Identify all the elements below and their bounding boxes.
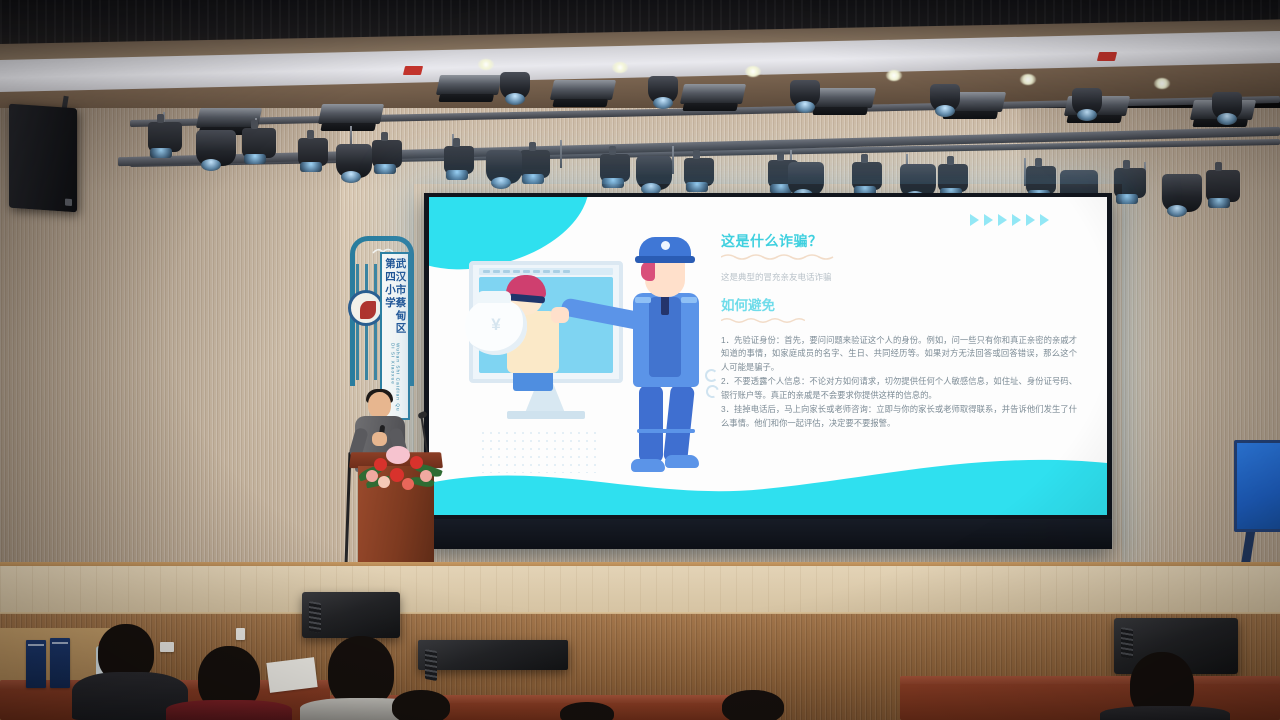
moving-head-fixture [1212,92,1242,120]
arrow-decoration-group [970,214,1049,226]
slide-title: 这是什么诈骗？ [721,231,1077,251]
officer-hand [551,307,569,323]
slide-body-text: 1．先验证身份：首先，要问问题来验证这个人的身份。例如，问一些只有你和真正亲密的… [721,334,1077,430]
moving-head-fixture [788,162,824,196]
screen-bezel [424,519,1112,549]
floor-monitor-speaker [302,592,400,638]
school-name-chinese: 武汉市蔡甸区第四小学 [385,258,406,343]
blue-dash-decoration [637,429,695,433]
slide-point: 2．不要透露个人信息：不论对方如何请求，切勿提供任何个人敏感信息，如住址、身份证… [721,375,1077,402]
moving-head-fixture [1162,174,1202,212]
triangle-right-icon [1012,214,1021,226]
monitor-stand-base [507,411,585,419]
led-display-screen[interactable]: 这是什么诈骗？ 这是典型的冒充亲友电话诈骗 如何避免 1．先验证身份：首先，要问… [424,193,1112,549]
presentation-slide: 这是什么诈骗？ 这是典型的冒充亲友电话诈骗 如何避免 1．先验证身份：首先，要问… [429,197,1107,515]
moving-head-fixture [1072,88,1102,116]
par-can-fixture [600,154,630,182]
par-can-fixture [148,122,182,152]
audience-shoulders [1100,706,1230,720]
par-can-fixture [520,150,550,178]
lily-bloom [386,446,410,464]
led-blinder-fixture [550,80,616,100]
rose-bloom [366,470,378,482]
audience-head [722,690,784,720]
par-can-fixture [852,162,882,190]
ceiling-spot-light [745,66,761,77]
browser-toolbar [479,268,613,275]
moving-head-fixture [486,150,522,184]
ceiling-spot-light [478,59,494,70]
moving-head-fixture [500,72,530,100]
par-can-fixture [684,158,714,186]
ceiling-spot-light [886,70,902,81]
cap-brim [635,256,695,263]
ceiling-spot-light [1154,78,1170,89]
par-can-fixture [242,128,276,158]
par-can-fixture [1206,170,1240,202]
officer-necktie [661,295,669,315]
moving-head-fixture [336,144,372,178]
slide-text-column: 这是什么诈骗？ 这是典型的冒充亲友电话诈骗 如何避免 1．先验证身份：首先，要问… [721,231,1077,431]
slide-subtitle: 这是典型的冒充亲友电话诈骗 [721,271,1077,283]
triangle-right-icon [1040,214,1049,226]
blue-booklet [26,640,46,688]
auditorium-scene: 武汉市蔡甸区第四小学 Wuhan Shi Caidian Qu Di Si Xi… [0,0,1280,720]
ceiling-spot-light [1020,74,1036,85]
audience-shoulders [166,700,292,720]
moving-head-fixture [636,156,672,190]
par-can-fixture [298,138,328,166]
par-can-fixture [938,164,968,192]
audience-head [392,690,450,720]
flower-arrangement [362,442,438,494]
wall-speaker [9,104,77,213]
money-bag-icon [465,299,527,355]
led-blinder-fixture [318,104,384,124]
triangle-right-icon [1026,214,1035,226]
school-emblem [348,290,384,326]
squiggle-underline-icon [721,317,805,323]
moving-head-fixture [196,130,236,166]
led-blinder-fixture [436,75,502,95]
presenter-head [368,392,391,418]
officer-hair [641,261,655,281]
moving-head-fixture [790,80,820,108]
moving-head-fixture [930,84,960,112]
rose-bloom [420,470,432,482]
par-can-fixture [1114,168,1146,198]
slide-section-heading: 如何避免 [721,294,1077,314]
rose-bloom [402,478,414,490]
wall-outlet [160,642,174,652]
rose-bloom [410,456,423,469]
slide-point: 3．挂掉电话后，马上向家长或老师咨询：立即与你的家长或老师取得联系，并告诉他们发… [721,403,1077,430]
par-can-fixture [444,146,474,174]
blue-booklet [50,638,70,688]
stage-equipment-case [418,640,568,670]
officer-epaulet [681,297,697,303]
triangle-right-icon [970,214,979,226]
rose-bloom [374,458,387,471]
slide-point: 1．先验证身份：首先，要问问题来验证这个人的身份。例如，问一些只有你和真正亲密的… [721,334,1077,374]
audience-head [560,702,614,720]
officer-epaulet [635,297,651,303]
red-flag-marker [403,66,423,75]
squiggle-underline-icon [721,253,839,260]
cap-badge-icon [661,241,670,250]
fixture-hanging-wire [560,140,562,168]
rose-bloom [378,476,390,488]
moving-head-fixture [648,76,678,104]
handcuff-ring [704,383,721,400]
side-display-screen[interactable] [1234,440,1280,532]
fixture-hanging-wire [672,146,674,174]
red-flag-marker [1097,52,1117,61]
slide-wave-bottom [429,449,1107,515]
wall-outlet [236,628,245,640]
par-can-fixture [372,140,402,168]
handcuff-ring [705,369,718,382]
ceiling-spot-light [612,62,628,73]
triangle-right-icon [998,214,1007,226]
par-can-fixture [1026,166,1056,194]
paper-handout [266,657,317,693]
money-bag-tie [477,291,511,303]
handcuffs-icon [705,369,721,399]
led-blinder-fixture [680,84,746,104]
triangle-right-icon [984,214,993,226]
